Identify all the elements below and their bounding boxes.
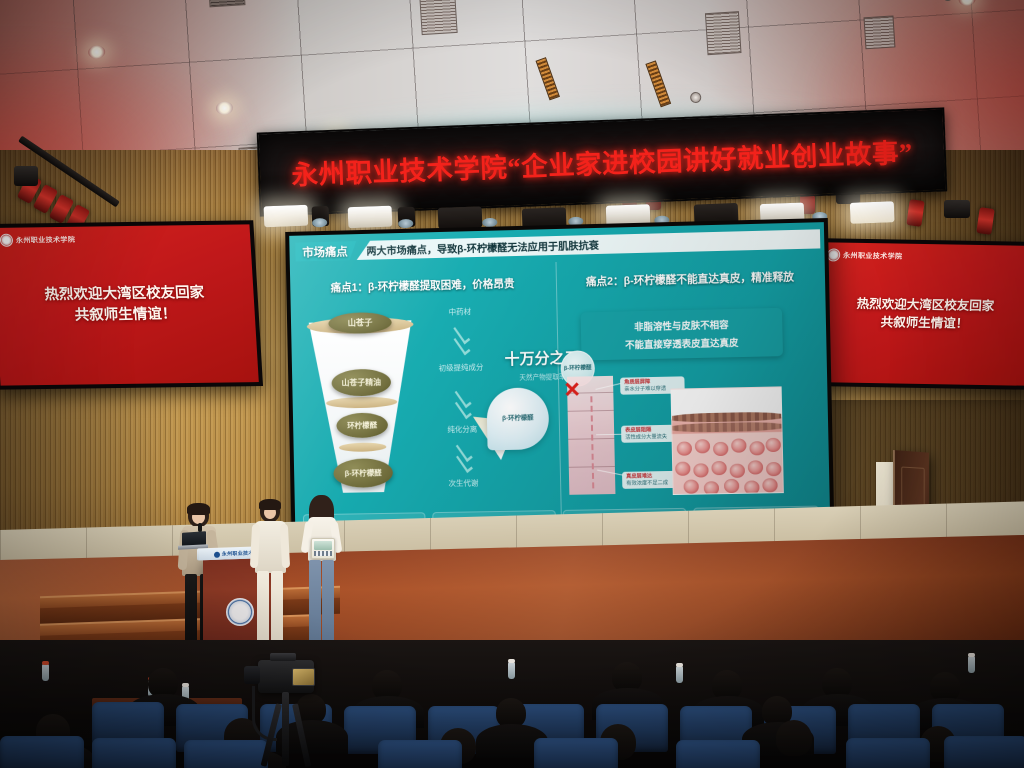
stage-spotlight: [14, 166, 38, 186]
university-emblem-icon: [214, 551, 220, 557]
epidermis-layer: [671, 422, 784, 433]
presentation-slide: 市场痛点 两大市场痛点，导致β-环柠檬醛无法应用于肌肤抗衰 痛点1：β-环柠檬醛…: [289, 222, 830, 538]
side-display-right-content: 永州职业技术学院 热烈欢迎大湾区校友回家 共叙师生情谊！: [812, 242, 1024, 386]
auditorium-scene: 永州职业技术学院“企业家进校园讲好就业创业故事” 永州职业技术学院 热烈欢迎大湾…: [0, 0, 1024, 768]
university-emblem-icon: [0, 234, 13, 247]
camera-handle: [270, 653, 296, 661]
presenter-with-product: [302, 496, 342, 648]
water-bottle: [508, 662, 515, 679]
wash-light: [264, 205, 309, 228]
wash-light: [348, 206, 393, 229]
auditorium-chair[interactable]: [92, 738, 176, 768]
presenter-hair: [259, 499, 281, 510]
wash-light-lens: [398, 219, 413, 229]
welcome-line-1: 热烈欢迎大湾区校友回家: [44, 283, 205, 306]
bottle-cap: [182, 683, 189, 687]
bottle-cap: [676, 663, 683, 667]
product-box-image: [314, 541, 332, 550]
university-logo-text: 永州职业技术学院: [843, 250, 903, 261]
water-bottle: [42, 664, 49, 681]
university-logo-text: 永州职业技术学院: [16, 234, 76, 245]
auditorium-chair[interactable]: [676, 740, 760, 768]
dermal-cell: [766, 462, 781, 476]
funnel-arrow-label-2: 初级提纯成分: [424, 362, 498, 373]
slide-headline-banner: 两大市场痛点，导致β-环柠檬醛无法应用于肌肤抗衰: [356, 229, 820, 260]
skin-histology-image: [671, 386, 784, 495]
auditorium-chair[interactable]: [846, 738, 930, 768]
tripod-leg: [292, 703, 311, 767]
ceiling-air-vent: [705, 11, 742, 55]
auditorium-chair[interactable]: [378, 740, 462, 768]
wash-light: [438, 206, 483, 229]
tripod-leg: [282, 692, 289, 766]
dermal-cell: [744, 480, 759, 494]
pain-point-right-text: 痛点2：β-环柠檬醛不能直达真皮，精准释放: [586, 270, 794, 290]
dermal-cell: [748, 460, 763, 474]
dermal-cell: [724, 479, 739, 493]
funnel-arrow-label-1: 中药材: [423, 306, 497, 317]
dermal-cell: [749, 441, 764, 455]
wash-light-lens: [312, 218, 327, 228]
slide-headline-text: 两大市场痛点，导致β-环柠檬醛无法应用于肌肤抗衰: [366, 237, 599, 258]
epidermis-layer: [671, 411, 784, 422]
side-display-left-content: 永州职业技术学院 热烈欢迎大湾区校友回家 共叙师生情谊！: [0, 224, 259, 385]
bottle-cap: [968, 653, 975, 657]
wash-light: [850, 201, 895, 224]
product-box-label-strip: [314, 551, 332, 556]
audience-member: [776, 720, 812, 756]
bottle-cap: [508, 659, 515, 663]
slide-section-tag: 市场痛点: [295, 241, 356, 261]
blocked-penetration-x-icon: [564, 381, 580, 397]
dermal-cell: [677, 441, 692, 455]
camera-lens: [244, 666, 260, 684]
dermal-cell: [695, 439, 710, 453]
university-emblem-icon: [827, 248, 841, 261]
dermal-cell: [731, 438, 746, 452]
dermal-cell: [730, 464, 745, 478]
dermal-cell: [765, 438, 780, 452]
dermal-cell: [762, 478, 777, 492]
dermal-cell: [713, 442, 728, 456]
camera-lcd-screen[interactable]: [292, 668, 315, 686]
presenter-hair: [187, 503, 210, 515]
pain-point-left: 痛点1：β-环柠檬醛提取困难，价格昂贵: [290, 262, 556, 310]
skin-barrier-note-line-2: 不能直接穿透表皮直达真皮: [625, 337, 739, 351]
dermal-cell: [711, 461, 726, 475]
welcome-line-2: 共叙师生情谊！: [74, 304, 177, 326]
auditorium-chair[interactable]: [0, 736, 84, 768]
dermal-cell: [675, 462, 690, 476]
product-box[interactable]: [311, 538, 335, 559]
funnel-arrow-label-4: 次生代谢: [427, 478, 501, 488]
pain-point-left-text: 痛点1：β-环柠檬醛提取困难，价格昂贵: [331, 277, 515, 296]
water-bottle: [968, 656, 975, 673]
welcome-line-2: 共叙师生情谊！: [880, 313, 969, 333]
droplet-graphic: β-环柠檬醛: [486, 387, 549, 450]
main-led-screen: 市场痛点 两大市场痛点，导致β-环柠檬醛无法应用于肌肤抗衰 痛点1：β-环柠檬醛…: [285, 218, 834, 542]
side-display-right: 永州职业技术学院 热烈欢迎大湾区校友回家 共叙师生情谊！: [808, 238, 1024, 390]
presenter-jeans-leg: [309, 560, 321, 642]
skin-barrier-note: 非脂溶性与皮肤不相容 不能直接穿透表皮直达真皮: [581, 308, 783, 361]
presenter-jeans-leg: [322, 560, 334, 642]
side-display-left: 永州职业技术学院 热烈欢迎大湾区校友回家 共叙师生情谊！: [0, 220, 263, 389]
bottle-cap: [42, 661, 49, 665]
ceiling-air-vent: [863, 15, 895, 49]
presenter-arm: [280, 524, 290, 568]
pain-point-right: 痛点2：β-环柠檬醛不能直达真皮，精准释放: [555, 255, 825, 304]
presenter-legs: [309, 560, 336, 648]
auditorium-chair[interactable]: [944, 736, 1024, 768]
water-bottle: [676, 666, 683, 683]
university-logo-left: 永州职业技术学院: [0, 233, 76, 247]
university-logo-right: 永州职业技术学院: [827, 248, 903, 262]
dermal-cell: [684, 480, 699, 494]
ceiling-air-vent: [419, 0, 458, 35]
dermal-cell: [704, 481, 719, 495]
skin-barrier-note-line-1: 非脂溶性与皮肤不相容: [634, 319, 729, 332]
presenter-center: [249, 500, 291, 660]
audience-area: [0, 640, 1024, 768]
welcome-line-1: 热烈欢迎大湾区校友回家: [856, 295, 995, 315]
extraction-funnel-diagram: 山苍子 山苍子精油 环柠檬醛 β-环柠檬醛: [303, 310, 423, 501]
dermal-cell: [693, 463, 708, 477]
video-camera-rig: [248, 660, 326, 765]
auditorium-chair[interactable]: [534, 738, 618, 768]
